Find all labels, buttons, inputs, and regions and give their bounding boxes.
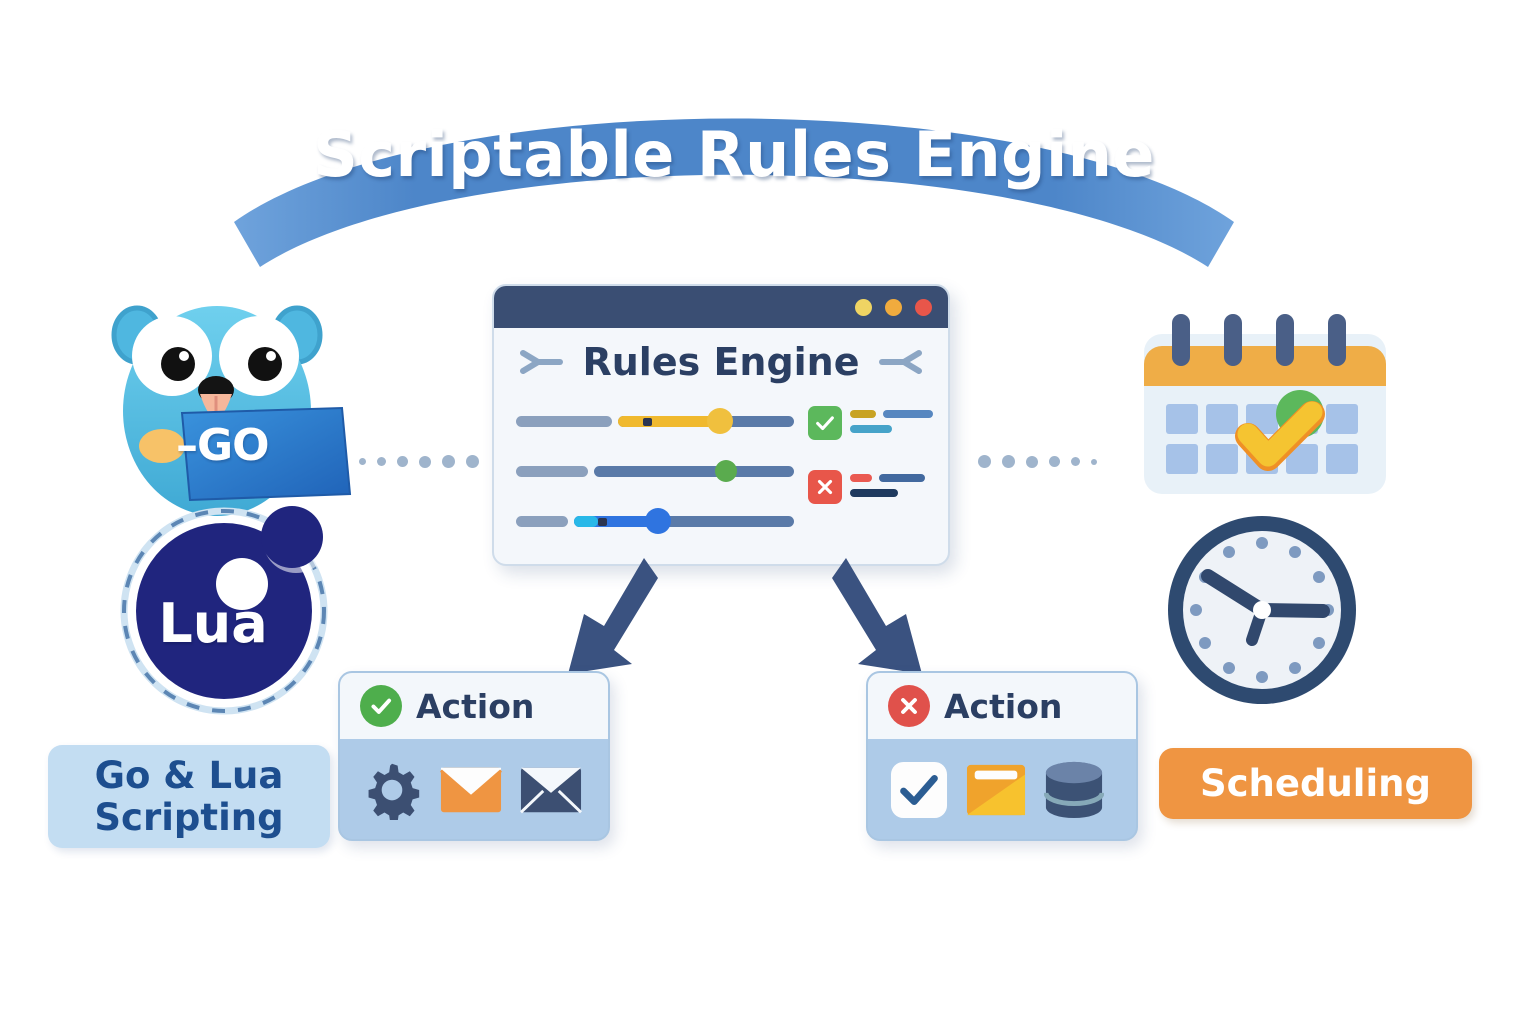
page-title: Scriptable Rules Engine	[313, 118, 1155, 191]
infographic-canvas: Scriptable Rules Engine	[0, 0, 1536, 1024]
check-icon	[808, 406, 842, 440]
dotted-connector-right	[978, 455, 1097, 468]
check-circle-icon	[360, 685, 402, 727]
rule-pass-row	[808, 406, 933, 440]
slider-blue-notch	[598, 518, 607, 526]
slider-blue-fill-cyan	[574, 516, 598, 527]
slider-green-track[interactable]	[594, 466, 794, 477]
lua-label: Lua	[148, 592, 278, 655]
checkbox-icon[interactable]	[890, 761, 948, 819]
rules-engine-window[interactable]: Rules Engine	[492, 284, 950, 566]
rule-fail-bars	[850, 470, 925, 497]
action-success-title: Action	[416, 687, 534, 726]
clock-icon	[1152, 512, 1378, 708]
rule-fail-row	[808, 470, 933, 504]
label-scheduling: Scheduling	[1159, 748, 1472, 819]
bar	[883, 410, 933, 418]
scripting-line-1: Go & Lua	[94, 755, 283, 796]
minimize-dot[interactable]	[855, 299, 872, 316]
slider-green-label	[516, 466, 588, 477]
action-failure-title: Action	[944, 687, 1062, 726]
slider-yellow[interactable]	[516, 408, 794, 434]
slider-yellow-track[interactable]	[618, 416, 794, 427]
window-heading: Rules Engine	[582, 340, 859, 384]
slider-green[interactable]	[516, 458, 794, 484]
window-heading-row: Rules Engine	[494, 340, 948, 384]
calendar-icon	[1134, 312, 1396, 517]
prompt-right-glyph	[518, 349, 564, 375]
label-go-lua-scripting: Go & Lua Scripting	[48, 745, 330, 848]
title-banner: Scriptable Rules Engine	[228, 72, 1240, 267]
action-card-failure[interactable]: Action	[866, 671, 1138, 841]
bar	[850, 410, 876, 418]
action-success-header: Action	[340, 673, 608, 739]
action-failure-header: Action	[868, 673, 1136, 739]
bar	[850, 489, 898, 497]
action-failure-icons	[868, 739, 1136, 841]
scripting-line-2: Scripting	[94, 797, 283, 838]
gear-icon[interactable]	[362, 760, 422, 820]
bar	[850, 474, 872, 482]
rule-pass-bars	[850, 406, 933, 433]
close-dot[interactable]	[915, 299, 932, 316]
prompt-left-glyph	[878, 349, 924, 375]
flow-arrows	[540, 556, 950, 686]
slider-blue-track[interactable]	[574, 516, 794, 527]
sliders-column	[516, 402, 794, 534]
slider-yellow-label	[516, 416, 612, 427]
maximize-dot[interactable]	[885, 299, 902, 316]
slider-yellow-knob[interactable]	[707, 408, 733, 434]
cross-circle-icon	[888, 685, 930, 727]
scheduling-text: Scheduling	[1200, 763, 1431, 804]
window-body	[494, 384, 948, 534]
action-card-success[interactable]: Action	[338, 671, 610, 841]
action-success-icons	[340, 739, 608, 841]
slider-yellow-notch	[643, 418, 652, 426]
cross-icon	[808, 470, 842, 504]
database-icon[interactable]	[1044, 760, 1104, 820]
go-sign-label: –GO	[176, 420, 348, 471]
envelope-navy-icon[interactable]	[520, 766, 582, 814]
slider-blue[interactable]	[516, 508, 794, 534]
window-titlebar	[494, 286, 948, 328]
bar	[850, 425, 892, 433]
banner-text-wrap: Scriptable Rules Engine	[228, 72, 1240, 267]
status-column	[808, 402, 933, 534]
slider-blue-knob[interactable]	[645, 508, 671, 534]
dotted-connector-left	[344, 455, 479, 468]
slider-blue-label	[516, 516, 568, 527]
slider-yellow-fill	[618, 416, 720, 427]
go-gopher-mascot	[104, 298, 352, 520]
slider-green-knob[interactable]	[715, 460, 737, 482]
folder-icon[interactable]	[966, 762, 1026, 818]
bar	[879, 474, 925, 482]
envelope-orange-icon[interactable]	[440, 766, 502, 814]
